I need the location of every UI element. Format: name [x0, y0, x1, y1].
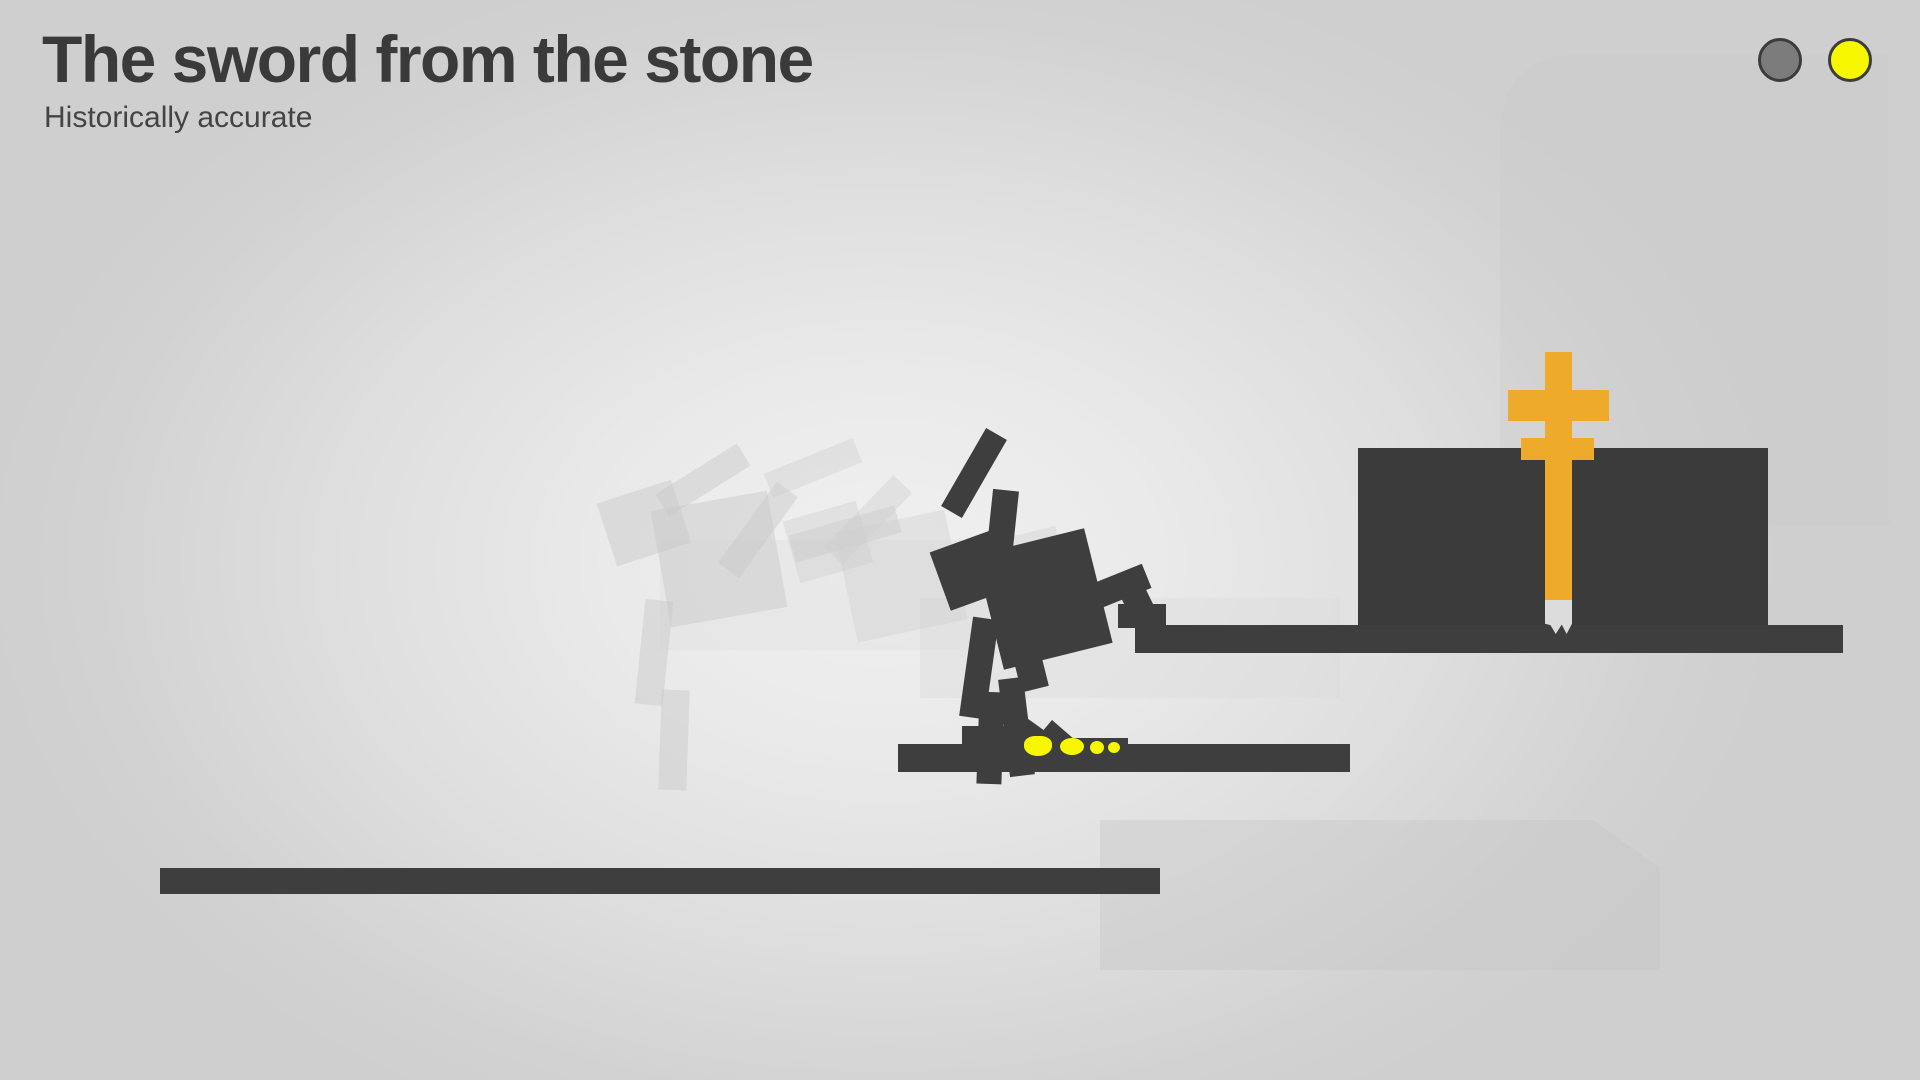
ragdoll-figure[interactable]: [0, 0, 1920, 1080]
rubble-base: [978, 738, 1128, 748]
spark-large: [1024, 736, 1052, 756]
yellow-status-dot[interactable]: [1828, 38, 1872, 82]
page-title: The sword from the stone: [42, 26, 813, 93]
spark-small-1: [1090, 741, 1104, 754]
header: The sword from the stone Historically ac…: [0, 0, 813, 135]
spark-medium: [1060, 738, 1084, 755]
gray-status-dot[interactable]: [1758, 38, 1802, 82]
game-canvas: The sword from the stone Historically ac…: [0, 0, 1920, 1080]
spark-small-2: [1108, 742, 1120, 753]
page-subtitle: Historically accurate: [44, 101, 813, 135]
status-dot-group: [1758, 38, 1872, 82]
ragdoll-hand-right: [1118, 604, 1166, 628]
